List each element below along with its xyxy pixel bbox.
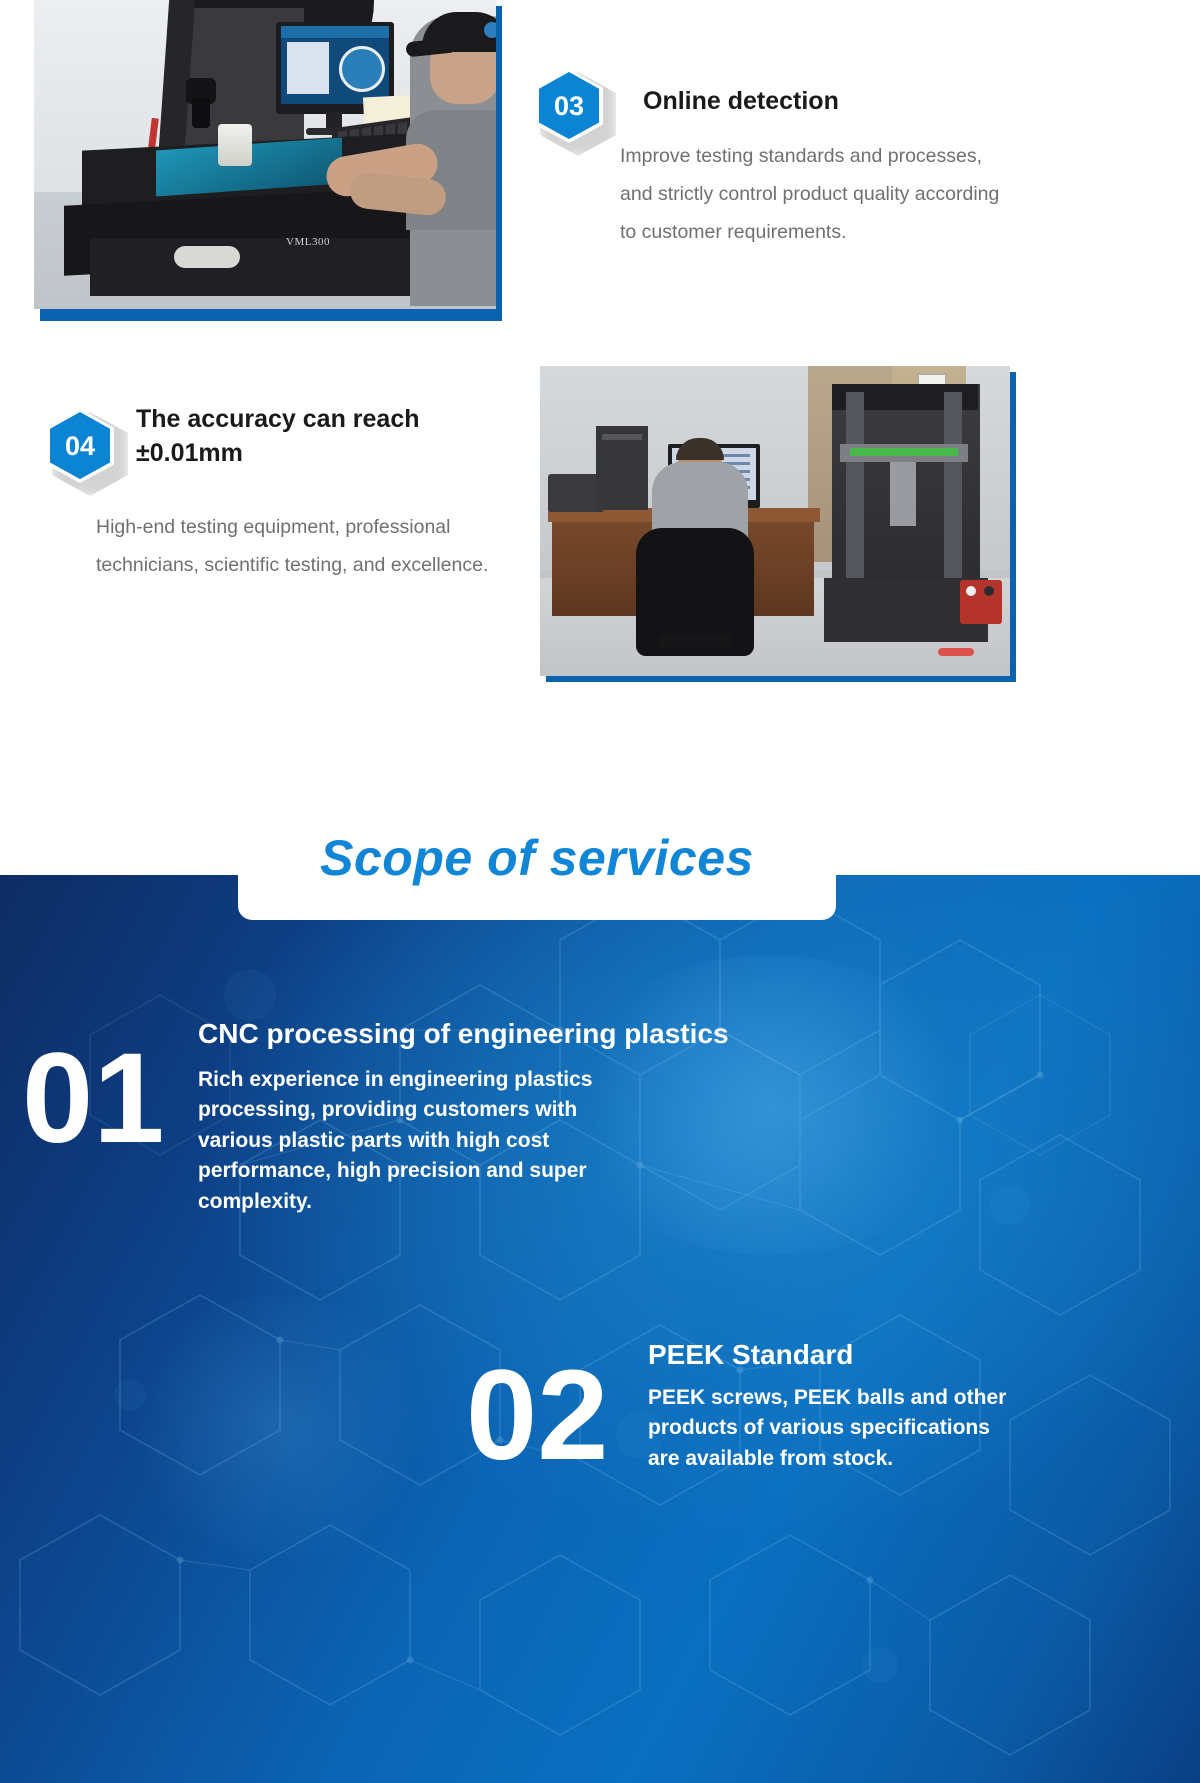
feature-03-badge: 03: [531, 64, 607, 148]
scope-item-01-title: CNC processing of engineering plastics: [198, 1018, 958, 1050]
feature-04-badge-number: 04: [42, 404, 118, 488]
feature-03-title: Online detection: [643, 85, 1063, 119]
banner-glow-2: [120, 1295, 440, 1555]
scope-item-01-body: Rich experience in engineering plastics …: [198, 1065, 598, 1217]
marketing-page: VML300 03 Online detection Improve testi…: [0, 0, 1200, 1783]
banner-glow: [560, 955, 980, 1255]
feature-04-title: The accuracy can reach ±0.01mm: [136, 403, 496, 471]
features-section: VML300 03 Online detection Improve testi…: [0, 0, 1200, 875]
scope-item-02-number: 02: [466, 1352, 608, 1480]
feature-03-image: VML300: [34, 0, 496, 309]
scope-item-02-body: PEEK screws, PEEK balls and other produc…: [648, 1383, 1016, 1474]
feature-04-body: High-end testing equipment, professional…: [96, 508, 516, 584]
feature-03-body: Improve testing standards and processes,…: [620, 137, 1012, 251]
feature-04-image: [540, 366, 1010, 676]
feature-03-badge-number: 03: [531, 64, 607, 148]
scope-of-services-title-card: Scope of services: [238, 795, 836, 920]
scope-of-services-heading: Scope of services: [320, 829, 754, 887]
feature-04-badge: 04: [42, 404, 118, 488]
scope-of-services-section: 01 CNC processing of engineering plastic…: [0, 875, 1200, 1783]
scope-item-01-number: 01: [22, 1035, 164, 1163]
scope-item-02-title: PEEK Standard: [648, 1339, 1068, 1371]
